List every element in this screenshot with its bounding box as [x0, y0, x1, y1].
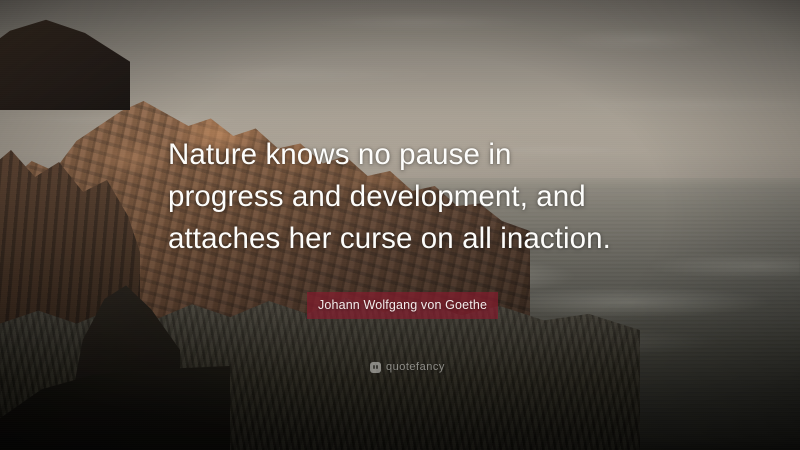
quotefancy-logo-icon — [370, 362, 381, 373]
quote-line-2: progress and development, and — [168, 176, 648, 218]
author-badge: Johann Wolfgang von Goethe — [307, 292, 498, 319]
quote-text-block: Nature knows no pause in progress and de… — [168, 134, 648, 260]
quote-line-1: Nature knows no pause in — [168, 134, 648, 176]
quote-image-canvas: Nature knows no pause in progress and de… — [0, 0, 800, 450]
watermark: quotefancy — [370, 361, 445, 373]
quote-line-3: attaches her curse on all inaction. — [168, 218, 648, 260]
watermark-label: quotefancy — [386, 361, 445, 373]
author-name: Johann Wolfgang von Goethe — [318, 298, 487, 312]
